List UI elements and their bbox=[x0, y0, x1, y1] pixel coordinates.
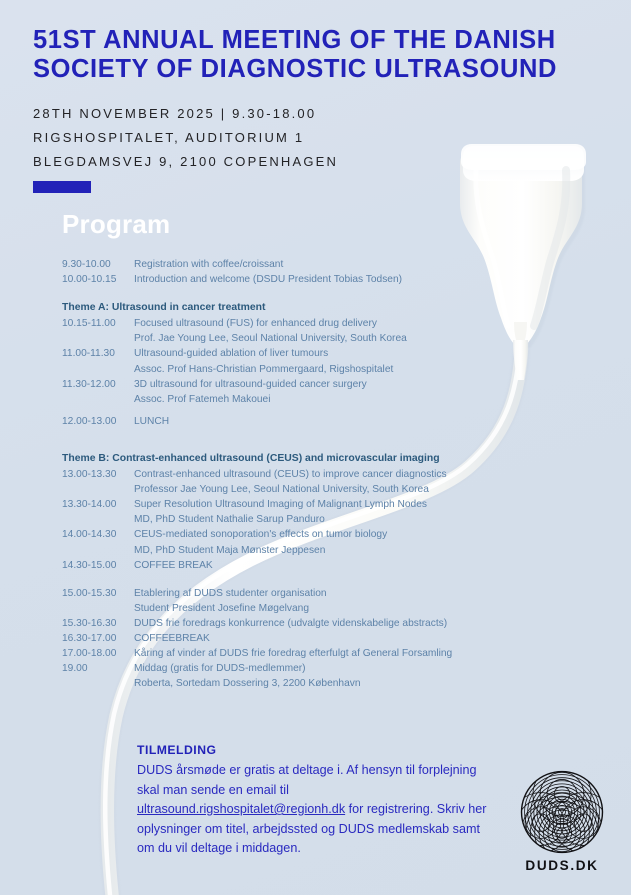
program-row-desc: Introduction and welcome (DSDU President… bbox=[134, 272, 562, 287]
theme-a-heading: Theme A: Ultrasound in cancer treatment bbox=[62, 300, 562, 315]
program-row-time: 9.30-10.00 bbox=[62, 257, 134, 272]
program-row-desc: MD, PhD Student Maja Mønster Jeppesen bbox=[134, 543, 562, 558]
program-row-speaker: MD, PhD Student Maja Mønster Jeppesen bbox=[62, 543, 562, 558]
program-row-time: 16.30-17.00 bbox=[62, 631, 134, 646]
program-row-time: 11.30-12.00 bbox=[62, 377, 134, 392]
theme-a-list: 10.15-11.00 Focused ultrasound (FUS) for… bbox=[62, 316, 562, 407]
program-row-desc: 3D ultrasound for ultrasound-guided canc… bbox=[134, 377, 562, 392]
program-row-speaker: Assoc. Prof Hans-Christian Pommergaard, … bbox=[62, 362, 562, 377]
duds-logo[interactable]: DUDS.DK bbox=[512, 768, 612, 873]
program-row-desc: Registration with coffee/croissant bbox=[134, 257, 562, 272]
event-address: BLEGDAMSVEJ 9, 2100 COPENHAGEN bbox=[33, 150, 593, 174]
concentric-rings-icon bbox=[518, 768, 606, 856]
program-row: 15.00-15.30 Etablering af DUDS studenter… bbox=[62, 586, 562, 601]
program-row-time: 14.00-14.30 bbox=[62, 527, 134, 542]
program-row-time: 12.00-13.00 bbox=[62, 414, 134, 429]
program-heading: Program bbox=[62, 209, 562, 240]
program-row: 19.00 Middag (gratis for DUDS-medlemmer) bbox=[62, 661, 562, 676]
program-row-desc: Super Resolution Ultrasound Imaging of M… bbox=[134, 497, 562, 512]
accent-bar bbox=[33, 181, 91, 193]
signup-email-link[interactable]: ultrasound.rigshospitalet@regionh.dk bbox=[137, 802, 345, 816]
page-title-line-1: 51ST ANNUAL MEETING OF THE DANISH bbox=[33, 26, 556, 54]
program-row-desc: Kåring af vinder af DUDS frie foredrag e… bbox=[134, 646, 562, 661]
program-row-desc: Assoc. Prof Hans-Christian Pommergaard, … bbox=[134, 362, 562, 377]
program-intro-list: 9.30-10.00 Registration with coffee/croi… bbox=[62, 257, 562, 287]
program-row: 15.30-16.30 DUDS frie foredrags konkurre… bbox=[62, 616, 562, 631]
program-row-desc: Assoc. Prof Fatemeh Makouei bbox=[134, 392, 562, 407]
program-row: 11.30-12.00 3D ultrasound for ultrasound… bbox=[62, 377, 562, 392]
program-row: 14.00-14.30 CEUS-mediated sonoporation's… bbox=[62, 527, 562, 542]
program-row: 9.30-10.00 Registration with coffee/croi… bbox=[62, 257, 562, 272]
program-row-time: 13.00-13.30 bbox=[62, 467, 134, 482]
program-row-desc: MD, PhD Student Nathalie Sarup Panduro bbox=[134, 512, 562, 527]
duds-logo-text: DUDS.DK bbox=[512, 858, 612, 873]
program-row: 17.00-18.00 Kåring af vinder af DUDS fri… bbox=[62, 646, 562, 661]
program-row-desc: Prof. Jae Young Lee, Seoul National Univ… bbox=[134, 331, 562, 346]
poster-header: 51ST ANNUAL MEETING OF THE DANISH SOCIET… bbox=[33, 26, 593, 193]
program-row-desc: Middag (gratis for DUDS-medlemmer) bbox=[134, 661, 562, 676]
program-row-desc: Contrast-enhanced ultrasound (CEUS) to i… bbox=[134, 467, 562, 482]
program-row-speaker: Roberta, Sortedam Dossering 3, 2200 Købe… bbox=[62, 676, 562, 691]
program-row: 13.30-14.00 Super Resolution Ultrasound … bbox=[62, 497, 562, 512]
program-row: 13.00-13.30 Contrast-enhanced ultrasound… bbox=[62, 467, 562, 482]
program-row-desc: Student President Josefine Møgelvang bbox=[134, 601, 562, 616]
poster-canvas: 51ST ANNUAL MEETING OF THE DANISH SOCIET… bbox=[0, 0, 631, 895]
program-row-desc: COFFEEBREAK bbox=[134, 631, 562, 646]
program-row-speaker: Assoc. Prof Fatemeh Makouei bbox=[62, 392, 562, 407]
theme-b-list: 13.00-13.30 Contrast-enhanced ultrasound… bbox=[62, 467, 562, 573]
program-row-time: 14.30-15.00 bbox=[62, 558, 134, 573]
program-row-time: 19.00 bbox=[62, 661, 134, 676]
program-row-time: 13.30-14.00 bbox=[62, 497, 134, 512]
program-row-time: 10.15-11.00 bbox=[62, 316, 134, 331]
signup-heading: TILMELDING bbox=[137, 743, 497, 757]
program-row-desc: Focused ultrasound (FUS) for enhanced dr… bbox=[134, 316, 562, 331]
event-date: 28TH NOVEMBER 2025 | 9.30-18.00 bbox=[33, 102, 593, 126]
program-closing-list: 15.00-15.30 Etablering af DUDS studenter… bbox=[62, 586, 562, 692]
page-title: 51ST ANNUAL MEETING OF THE DANISH SOCIET… bbox=[33, 26, 593, 84]
event-venue: RIGSHOSPITALET, AUDITORIUM 1 bbox=[33, 126, 593, 150]
program-row-time: 15.00-15.30 bbox=[62, 586, 134, 601]
program-row-desc: LUNCH bbox=[134, 414, 562, 429]
program-row-desc: CEUS-mediated sonoporation's effects on … bbox=[134, 527, 562, 542]
program-row-speaker: Student President Josefine Møgelvang bbox=[62, 601, 562, 616]
program-row: 11.00-11.30 Ultrasound-guided ablation o… bbox=[62, 346, 562, 361]
event-meta: 28TH NOVEMBER 2025 | 9.30-18.00 RIGSHOSP… bbox=[33, 102, 593, 193]
program-row-time: 10.00-10.15 bbox=[62, 272, 134, 287]
program-row-desc: Ultrasound-guided ablation of liver tumo… bbox=[134, 346, 562, 361]
program-row-time: 11.00-11.30 bbox=[62, 346, 134, 361]
program-row-desc: Roberta, Sortedam Dossering 3, 2200 Købe… bbox=[134, 676, 562, 691]
program-row-desc: Etablering af DUDS studenter organisatio… bbox=[134, 586, 562, 601]
program-row: 14.30-15.00 COFFEE BREAK bbox=[62, 558, 562, 573]
theme-b-heading: Theme B: Contrast-enhanced ultrasound (C… bbox=[62, 451, 562, 466]
signup-section: TILMELDING DUDS årsmøde er gratis at del… bbox=[137, 743, 497, 859]
signup-text-before: DUDS årsmøde er gratis at deltage i. Af … bbox=[137, 763, 477, 797]
program-row: 10.00-10.15 Introduction and welcome (DS… bbox=[62, 272, 562, 287]
program-row-speaker: Professor Jae Young Lee, Seoul National … bbox=[62, 482, 562, 497]
program-section: Program 9.30-10.00 Registration with cof… bbox=[62, 209, 562, 691]
signup-body: DUDS årsmøde er gratis at deltage i. Af … bbox=[137, 761, 497, 859]
program-row-speaker: MD, PhD Student Nathalie Sarup Panduro bbox=[62, 512, 562, 527]
program-row-time: 15.30-16.30 bbox=[62, 616, 134, 631]
program-row-desc: Professor Jae Young Lee, Seoul National … bbox=[134, 482, 562, 497]
program-row: 10.15-11.00 Focused ultrasound (FUS) for… bbox=[62, 316, 562, 331]
page-title-line-2: SOCIETY OF DIAGNOSTIC ULTRASOUND bbox=[33, 55, 557, 83]
program-row-desc: DUDS frie foredrags konkurrence (udvalgt… bbox=[134, 616, 562, 631]
program-row: 16.30-17.00 COFFEEBREAK bbox=[62, 631, 562, 646]
program-row-speaker: Prof. Jae Young Lee, Seoul National Univ… bbox=[62, 331, 562, 346]
program-row-desc: COFFEE BREAK bbox=[134, 558, 562, 573]
program-row-lunch: 12.00-13.00 LUNCH bbox=[62, 414, 562, 429]
program-row-time: 17.00-18.00 bbox=[62, 646, 134, 661]
